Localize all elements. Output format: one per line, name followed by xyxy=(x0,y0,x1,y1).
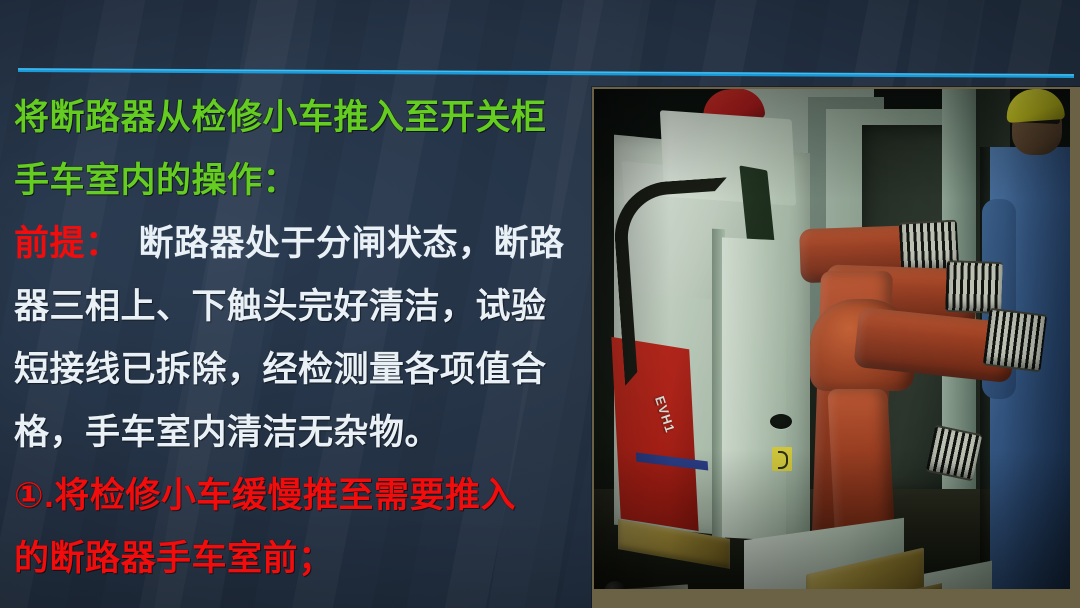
step-line-1: ①.将检修小车缓慢推至需要推入 xyxy=(14,464,592,527)
slide-canvas: 将断路器从检修小车推入至开关柜 手车室内的操作： 前提：断路器处于分闸状态，断路… xyxy=(0,0,1080,608)
photo-switchgear-operation: EVH1 xyxy=(594,89,1070,589)
photo-frame: EVH1 xyxy=(592,87,1080,608)
premise-text: 断路器处于分闸状态，断路 xyxy=(139,224,565,263)
premise-line: 前提：断路器处于分闸状态，断路 xyxy=(14,212,592,275)
body-line-1: 器三相上、下触头完好清洁，试验 xyxy=(14,275,592,338)
premise-label: 前提： xyxy=(14,224,121,263)
title-divider-rule xyxy=(18,66,1074,78)
text-content-block: 将断路器从检修小车推入至开关柜 手车室内的操作： 前提：断路器处于分闸状态，断路… xyxy=(14,86,592,590)
body-line-2: 短接线已拆除，经检测量各项值合 xyxy=(14,338,592,401)
heading-line-2: 手车室内的操作： xyxy=(14,149,592,212)
body-line-3: 格，手车室内清洁无杂物。 xyxy=(14,401,592,464)
step-line-2: 的断路器手车室前； xyxy=(14,527,592,590)
heading-line-1: 将断路器从检修小车推入至开关柜 xyxy=(14,86,592,149)
photo-lighting-gradient xyxy=(594,89,1070,589)
